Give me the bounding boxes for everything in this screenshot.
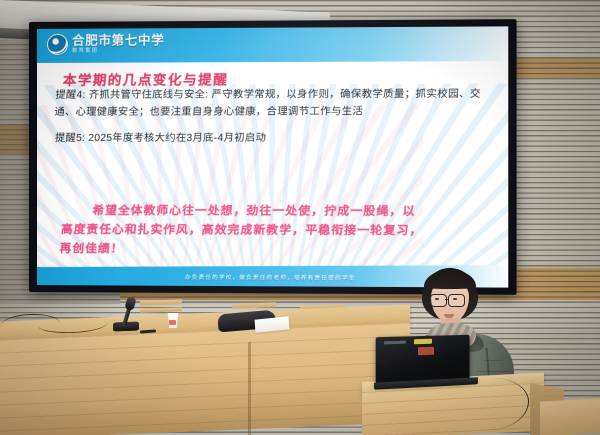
school-subtitle: 教育集团 bbox=[72, 49, 164, 54]
slide-emphasis-line-3: 再创佳绩！ bbox=[59, 239, 489, 260]
glasses-lens-left bbox=[430, 294, 447, 307]
slide-header-bar: 合肥市第七中学 教育集团 bbox=[37, 26, 508, 63]
school-emblem-icon bbox=[47, 34, 68, 55]
projection-screen: 合肥市第七中学 教育集团 本学期的几点变化与提醒 提醒4: 齐抓共管守住底线与安… bbox=[37, 26, 508, 287]
paper-cup-label bbox=[169, 320, 176, 325]
laptop-sticker bbox=[418, 347, 434, 356]
desk-seam bbox=[248, 342, 251, 435]
glasses-lens-right bbox=[448, 294, 465, 307]
photo-scene: 合肥市第七中学 教育集团 本学期的几点变化与提醒 提醒4: 齐抓共管守住底线与安… bbox=[0, 0, 600, 435]
front-desk-panel bbox=[0, 322, 410, 435]
slide-body: 提醒4: 齐抓共管守住底线与安全: 严守教学常规，以身作则，确保教学质量；抓实校… bbox=[55, 86, 496, 150]
podium-extension bbox=[540, 398, 600, 435]
slide-emphasis-line-1: 希望全体教师心往一处想，劲往一处使，拧成一股绳，以 bbox=[62, 201, 492, 221]
laptop-sticker bbox=[414, 339, 432, 345]
slide-emphasis-line-2: 高度责任心和扎实作风，高效完成新教学，平稳衔接一轮复习， bbox=[60, 220, 490, 241]
slide-emphasis-block: 希望全体教师心往一处想，劲往一处使，拧成一股绳，以 高度责任心和扎实作风，高效完… bbox=[59, 201, 492, 260]
hair-fringe bbox=[424, 270, 476, 289]
slide-paragraph-5: 提醒5: 2025年度考核大约在3月底-4月初启动 bbox=[55, 129, 497, 147]
glasses-bridge bbox=[445, 299, 448, 300]
school-logo: 合肥市第七中学 教育集团 bbox=[47, 33, 164, 55]
slide-paragraph-4: 提醒4: 齐抓共管守住底线与安全: 严守教学常规，以身作则，确保教学质量；抓实校… bbox=[54, 86, 497, 121]
slide-footer-motto: 办负责任的学校，做负责任的老师，培养有责任感的学生 bbox=[185, 273, 356, 282]
projection-screen-bezel: 合肥市第七中学 教育集团 本学期的几点变化与提醒 提醒4: 齐抓共管守住底线与安… bbox=[29, 19, 517, 295]
school-logo-text: 合肥市第七中学 教育集团 bbox=[72, 34, 164, 54]
school-name: 合肥市第七中学 bbox=[72, 34, 164, 47]
